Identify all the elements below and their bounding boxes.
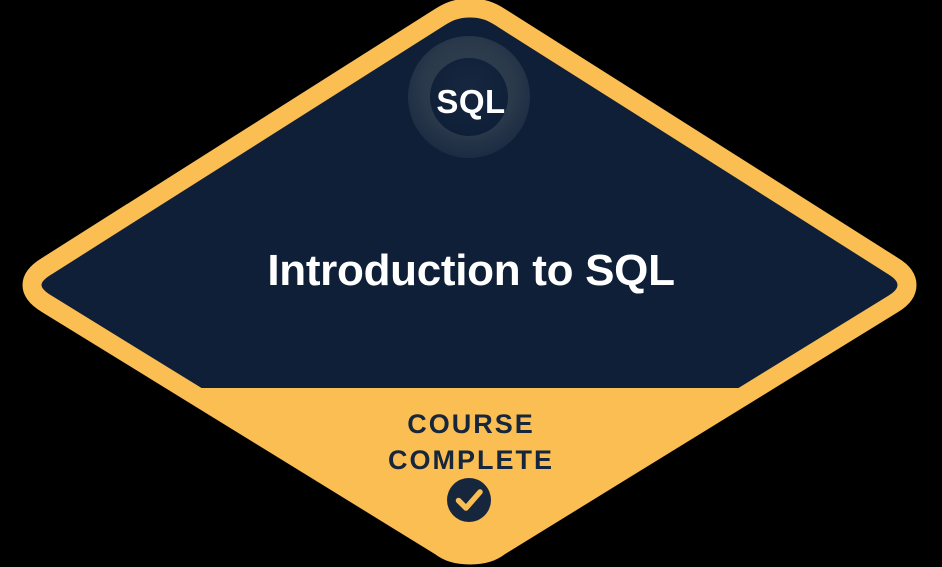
sql-emblem-inner-disc <box>430 58 508 136</box>
check-circle-icon <box>447 478 491 522</box>
check-circle-bg <box>447 478 491 522</box>
badge-upper-panel <box>0 0 942 388</box>
badge-shape <box>0 0 942 567</box>
certificate-badge: SQL Introduction to SQL COURSE COMPLETE <box>0 0 942 567</box>
